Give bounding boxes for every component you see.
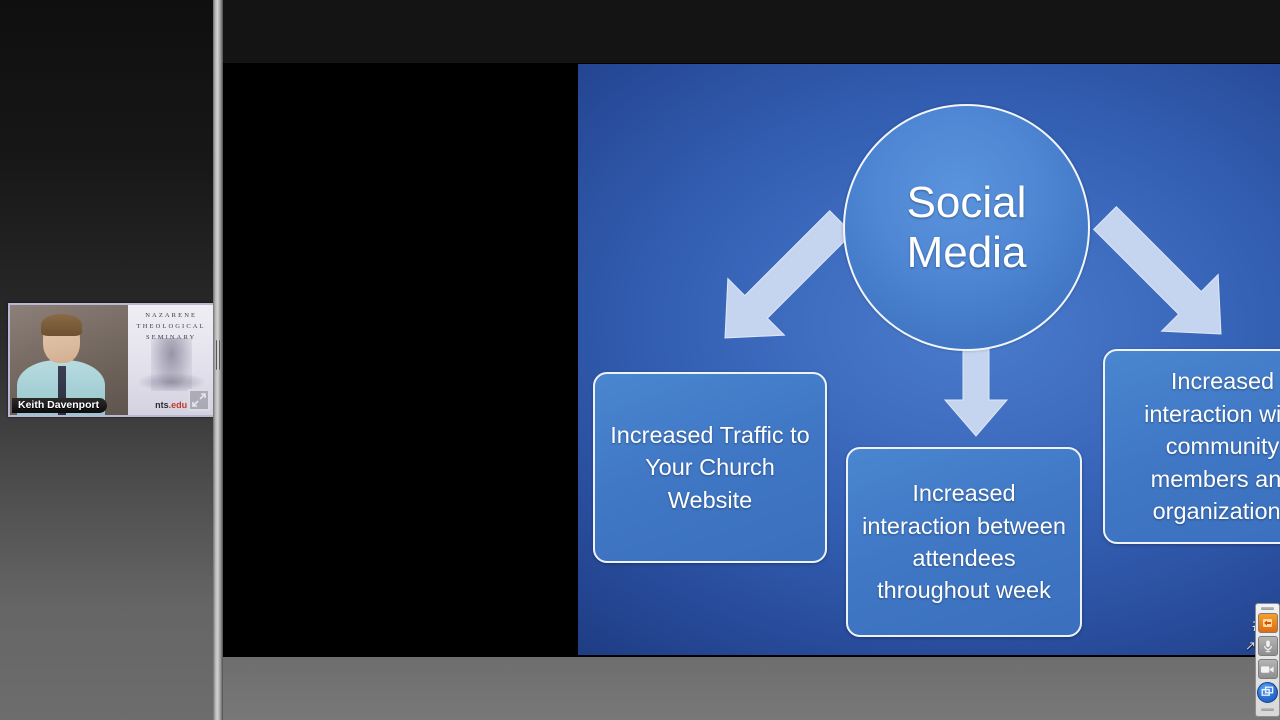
webcam-thumbnail[interactable]: NAZARENE THEOLOGICAL SEMINARY nts.edu Ke… bbox=[8, 303, 216, 417]
presentation-slide: Social Media Increased Traffic to Your C… bbox=[578, 64, 1280, 655]
center-node-social-media: Social Media bbox=[843, 104, 1090, 351]
camera-button[interactable] bbox=[1258, 659, 1278, 679]
backdrop-logo-line-1: NAZARENE bbox=[128, 312, 214, 319]
toolbar-grip-top[interactable] bbox=[1261, 607, 1274, 610]
expand-icon[interactable] bbox=[188, 389, 210, 411]
toolbar-grip-bottom[interactable] bbox=[1261, 708, 1274, 711]
backdrop-logo-line-2: THEOLOGICAL bbox=[128, 323, 214, 330]
arrow-down-left-icon bbox=[703, 190, 863, 370]
app-window: NAZARENE THEOLOGICAL SEMINARY nts.edu Ke… bbox=[0, 0, 1280, 720]
panel-splitter[interactable] bbox=[213, 0, 223, 720]
node-box-middle-text: Increased interaction between attendees … bbox=[848, 477, 1080, 607]
node-box-right-text: Increased interaction with community mem… bbox=[1105, 365, 1280, 527]
center-node-line-2: Media bbox=[907, 228, 1027, 277]
microphone-icon bbox=[1262, 639, 1274, 653]
participants-panel: NAZARENE THEOLOGICAL SEMINARY nts.edu Ke… bbox=[0, 0, 213, 720]
meeting-toolbar bbox=[1255, 603, 1280, 717]
node-box-middle: Increased interaction between attendees … bbox=[846, 447, 1082, 637]
leave-meeting-button[interactable] bbox=[1258, 613, 1278, 633]
arrow-down-right-icon bbox=[1078, 186, 1248, 366]
share-screen-button[interactable] bbox=[1257, 682, 1278, 703]
video-camera-icon bbox=[1260, 664, 1275, 675]
stage-bottom-bar bbox=[223, 657, 1280, 720]
exit-arrow-icon bbox=[1261, 617, 1275, 629]
node-box-left: Increased Traffic to Your Church Website bbox=[593, 372, 827, 563]
splitter-handle[interactable] bbox=[216, 340, 220, 370]
shared-screen-stage: Social Media Increased Traffic to Your C… bbox=[223, 0, 1280, 720]
participant-name-label: Keith Davenport bbox=[12, 398, 107, 413]
arrow-down-icon bbox=[941, 348, 1011, 438]
share-screen-icon bbox=[1261, 686, 1274, 699]
center-node-line-1: Social bbox=[907, 178, 1027, 227]
participant-hair bbox=[41, 314, 83, 336]
microphone-button[interactable] bbox=[1258, 636, 1278, 656]
node-box-right: Increased interaction with community mem… bbox=[1103, 349, 1280, 544]
node-box-left-text: Increased Traffic to Your Church Website bbox=[595, 419, 825, 516]
